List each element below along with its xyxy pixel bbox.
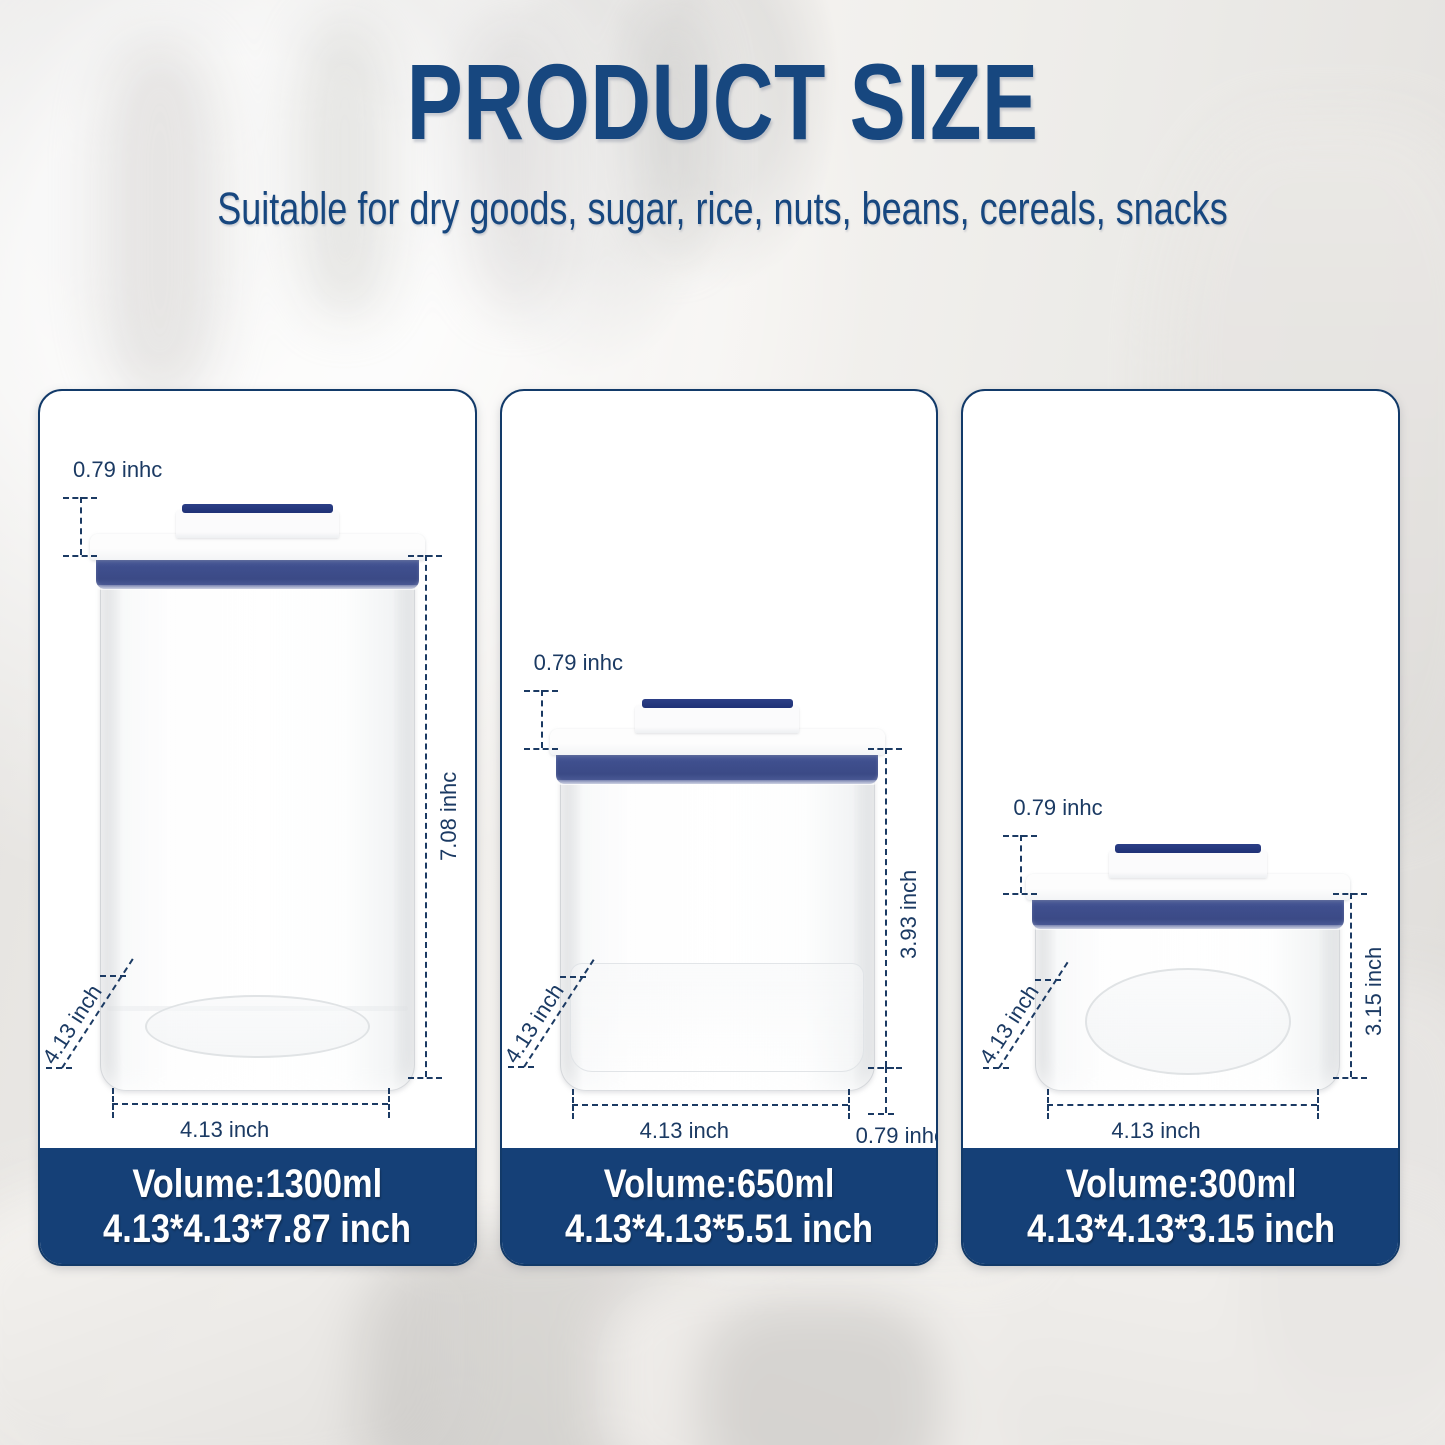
card-small-container: 0.79 inhc 3.15 inch 4.13 inch 4.13 inc: [961, 389, 1400, 1266]
dim-label-height-small: 3.15 inch: [1363, 947, 1385, 1036]
dim-label-base-medium: 0.79 inhc: [856, 1125, 939, 1147]
footer-small: Volume:300ml 4.13*4.13*3.15 inch: [961, 1148, 1400, 1266]
container-illustration-medium: [560, 686, 875, 1091]
card-medium-container: 0.79 inhc 3.93 inch 0.79 inhc 4.13 inc: [500, 389, 939, 1266]
dim-label-width-medium: 4.13 inch: [640, 1120, 729, 1142]
footer-volume-small: Volume:300ml: [1065, 1163, 1296, 1206]
dim-label-depth-large: 4.13 inch: [39, 981, 106, 1068]
dim-label-lid-medium: 0.79 inhc: [534, 652, 623, 674]
footer-dims-large: 4.13*4.13*7.87 inch: [103, 1208, 411, 1251]
footer-volume-medium: Volume:650ml: [604, 1163, 835, 1206]
page-subtitle: Suitable for dry goods, sugar, rice, nut…: [145, 156, 1301, 231]
dim-label-lid-small: 0.79 inhc: [1013, 797, 1102, 819]
footer-dims-medium: 4.13*4.13*5.51 inch: [565, 1208, 873, 1251]
dim-label-width-large: 4.13 inch: [180, 1119, 269, 1141]
footer-dims-small: 4.13*4.13*3.15 inch: [1027, 1208, 1335, 1251]
dim-label-height-large: 7.08 inhc: [438, 772, 460, 861]
page-title: PRODUCT SIZE: [159, 0, 1286, 156]
container-illustration-large: [100, 491, 415, 1091]
dim-label-width-small: 4.13 inch: [1111, 1120, 1200, 1142]
infographic-stage: PRODUCT SIZE Suitable for dry goods, sug…: [0, 0, 1445, 1445]
dim-label-lid-large: 0.79 inhc: [73, 459, 162, 481]
card-small-body: 0.79 inhc 3.15 inch 4.13 inch 4.13 inc: [963, 391, 1398, 1148]
card-large-container: 0.79 inhc 7.08 inhc 4.13 inch 4.13 inc: [38, 389, 477, 1266]
header: PRODUCT SIZE Suitable for dry goods, sug…: [0, 0, 1445, 231]
size-cards: 0.79 inhc 7.08 inhc 4.13 inch 4.13 inc: [38, 389, 1400, 1266]
dim-label-depth-small: 4.13 inch: [976, 981, 1043, 1068]
footer-medium: Volume:650ml 4.13*4.13*5.51 inch: [500, 1148, 939, 1266]
card-medium-body: 0.79 inhc 3.93 inch 0.79 inhc 4.13 inc: [502, 391, 937, 1148]
footer-volume-large: Volume:1300ml: [132, 1163, 382, 1206]
container-illustration-small: [1035, 831, 1340, 1091]
footer-large: Volume:1300ml 4.13*4.13*7.87 inch: [38, 1148, 477, 1266]
dim-label-height-medium: 3.93 inch: [898, 870, 920, 959]
card-large-body: 0.79 inhc 7.08 inhc 4.13 inch 4.13 inc: [40, 391, 475, 1148]
dim-label-depth-medium: 4.13 inch: [500, 980, 567, 1067]
